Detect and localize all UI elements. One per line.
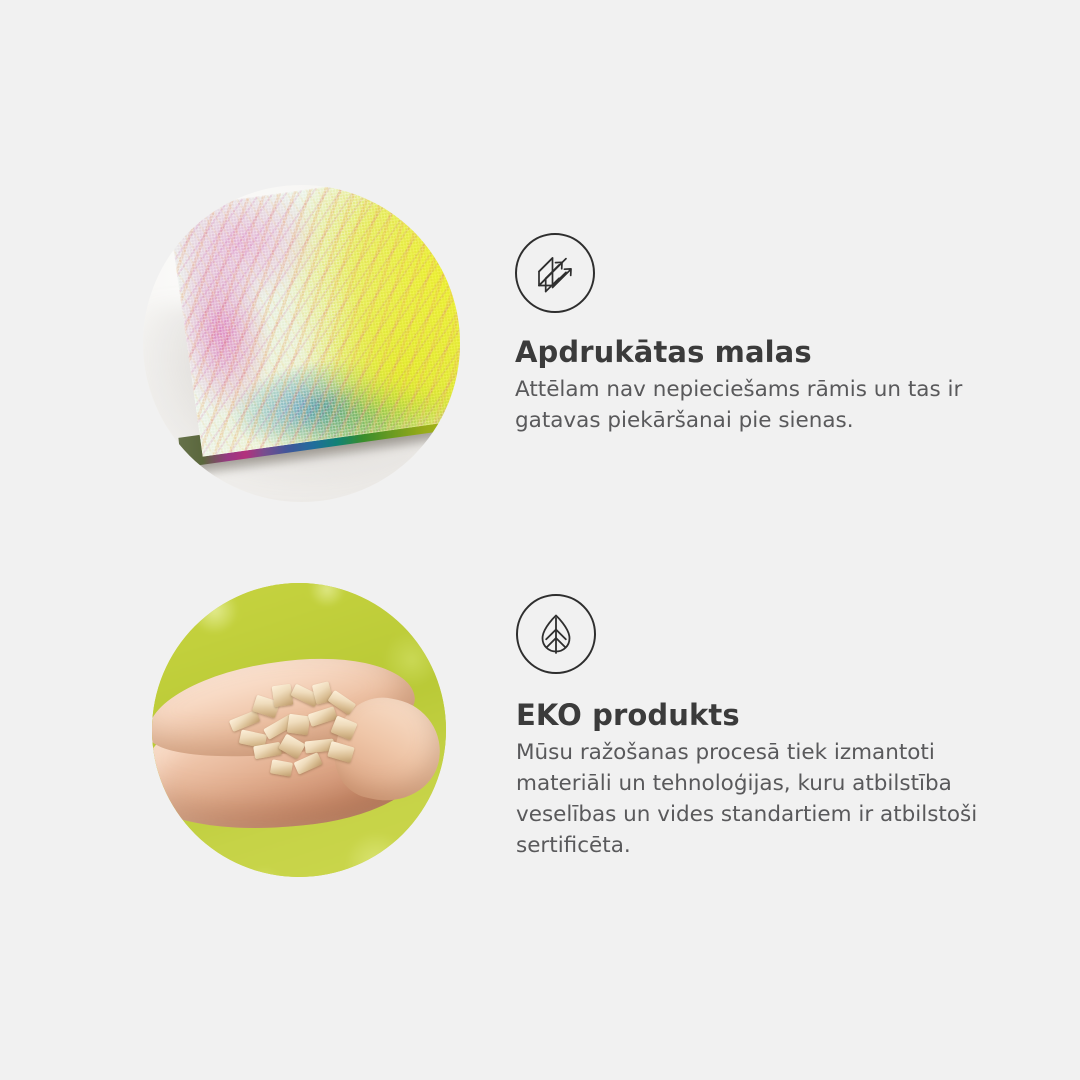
canvas-weave-texture [168, 185, 460, 457]
feature-description: Mūsu ražošanas procesā tiek izmantoti ma… [516, 737, 996, 861]
wood-chip [279, 733, 307, 759]
wood-chips-pile [220, 679, 391, 784]
feature-printed-edges: Apdrukātas malas Attēlam nav nepieciešam… [0, 160, 1080, 520]
feature-eco-product: EKO produkts Mūsu ražošanas procesā tiek… [0, 565, 1080, 895]
canvas-corner-photo [143, 185, 460, 502]
canvas-slab [143, 185, 460, 493]
wood-chip [328, 741, 355, 763]
text-column: Apdrukātas malas Attēlam nav nepieciešam… [500, 160, 1080, 436]
feature-description: Attēlam nav nepieciešams rāmis un tas ir… [515, 374, 1005, 436]
text-column: EKO produkts Mūsu ražošanas procesā tiek… [500, 565, 1080, 861]
canvas-printed-face [168, 185, 460, 457]
printed-edges-icon [515, 233, 595, 313]
hands-group [152, 662, 446, 827]
media-column [0, 160, 500, 520]
wood-chip [271, 684, 293, 707]
wood-chip [287, 713, 310, 735]
media-column [0, 565, 500, 895]
wood-chip [270, 759, 293, 776]
feature-title: EKO produkts [516, 698, 1080, 732]
feature-title: Apdrukātas malas [515, 335, 1080, 369]
wood-chip [229, 710, 260, 732]
wood-chips-photo [152, 583, 446, 877]
eco-leaf-icon [516, 594, 596, 674]
